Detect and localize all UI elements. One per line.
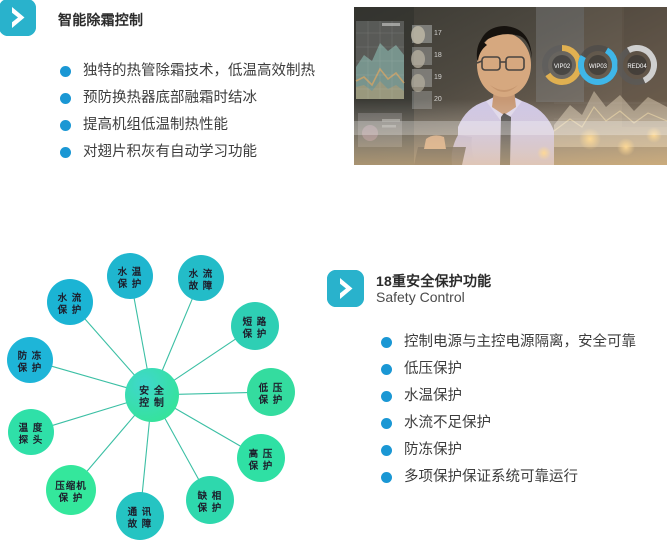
bullet-label: 提高机组低温制热性能 xyxy=(83,118,228,133)
svg-text:压缩机: 压缩机 xyxy=(55,480,87,492)
list-item: 控制电源与主控电源隔离，安全可靠 xyxy=(381,329,636,356)
svg-text:水 温: 水 温 xyxy=(118,266,143,278)
svg-text:防 冻: 防 冻 xyxy=(18,350,43,362)
svg-text:故 障: 故 障 xyxy=(128,518,153,530)
engineer-with-data-dashboard-photo: 1718 1920 xyxy=(354,7,667,165)
bullet-dot-icon xyxy=(60,66,71,77)
diagram-node[interactable]: 缺 相保 护 xyxy=(186,476,234,524)
bullet-dot-icon xyxy=(60,120,71,131)
diagram-link xyxy=(162,298,192,371)
diagram-node[interactable]: 短 路保 护 xyxy=(231,302,279,350)
diagram-link xyxy=(142,421,149,493)
svg-text:保 护: 保 护 xyxy=(57,304,83,316)
svg-text:保 护: 保 护 xyxy=(117,278,143,290)
svg-text:水 流: 水 流 xyxy=(58,292,83,304)
svg-text:保 护: 保 护 xyxy=(17,362,43,374)
diagram-link xyxy=(178,393,248,395)
svg-text:缺 相: 缺 相 xyxy=(197,490,223,502)
svg-text:探 头: 探 头 xyxy=(19,434,44,446)
list-item: 防冻保护 xyxy=(381,437,636,464)
svg-text:保 护: 保 护 xyxy=(248,460,274,472)
bullet-dot-icon xyxy=(60,147,71,158)
diagram-node[interactable]: 通 讯故 障 xyxy=(116,492,164,540)
list-item: 水流不足保护 xyxy=(381,410,636,437)
section-title-defrost: 智能除霜控制 xyxy=(58,10,143,30)
bullet-list-defrost: 独特的热管除霜技术，低温高效制热 预防换热器底部融霜时结冰 提高机组低温制热性能… xyxy=(60,58,315,166)
diagram-link xyxy=(52,403,127,426)
bullet-label: 防冻保护 xyxy=(404,443,462,458)
svg-text:保 护: 保 护 xyxy=(197,502,223,514)
bullet-dot-icon xyxy=(381,364,392,375)
svg-text:保 护: 保 护 xyxy=(258,394,284,406)
svg-text:保 护: 保 护 xyxy=(242,328,268,340)
svg-text:保 护: 保 护 xyxy=(58,492,84,504)
svg-text:通 讯: 通 讯 xyxy=(128,506,153,518)
diagram-link xyxy=(51,366,127,388)
svg-text:高 压: 高 压 xyxy=(249,448,274,460)
bullet-dot-icon xyxy=(381,445,392,456)
bullet-label: 多项保护保证系统可靠运行 xyxy=(404,470,578,485)
svg-text:19: 19 xyxy=(434,74,442,81)
svg-text:RED04: RED04 xyxy=(627,64,647,70)
bullet-label: 水流不足保护 xyxy=(404,416,491,431)
svg-text:温 度: 温 度 xyxy=(19,422,44,434)
list-item: 水温保护 xyxy=(381,383,636,410)
list-item: 低压保护 xyxy=(381,356,636,383)
list-item: 对翅片积灰有自动学习功能 xyxy=(60,139,315,166)
svg-text:17: 17 xyxy=(434,30,442,37)
bullet-label: 水温保护 xyxy=(404,389,462,404)
svg-text:18: 18 xyxy=(434,52,442,59)
diagram-link xyxy=(134,298,147,370)
chevron-right-badge-icon-safety xyxy=(327,270,364,307)
diagram-node[interactable]: 温 度探 头 xyxy=(8,409,54,455)
svg-text:控 制: 控 制 xyxy=(139,396,165,409)
bullet-label: 独特的热管除霜技术，低温高效制热 xyxy=(83,64,315,79)
bullet-label: 控制电源与主控电源隔离，安全可靠 xyxy=(404,335,636,350)
diagram-node[interactable]: 水 温保 护 xyxy=(107,253,153,299)
bullet-dot-icon xyxy=(381,391,392,402)
svg-text:WIP03: WIP03 xyxy=(589,64,608,70)
chevron-right-badge-icon-defrost xyxy=(0,0,36,36)
svg-text:VIP02: VIP02 xyxy=(554,64,571,70)
bullet-label: 低压保护 xyxy=(404,362,462,377)
diagram-node[interactable]: 高 压保 护 xyxy=(237,434,285,482)
list-item: 多项保护保证系统可靠运行 xyxy=(381,464,636,491)
diagram-link xyxy=(175,408,242,446)
diagram-node[interactable]: 安 全控 制 xyxy=(125,368,179,422)
bullet-dot-icon xyxy=(381,337,392,348)
diagram-node[interactable]: 水 流保 护 xyxy=(47,279,93,325)
diagram-link xyxy=(87,415,136,472)
section-title-safety: 18重安全保护功能 xyxy=(376,271,491,291)
diagram-node[interactable]: 防 冻保 护 xyxy=(7,337,53,383)
svg-text:短 路: 短 路 xyxy=(243,316,268,328)
bullet-label: 对翅片积灰有自动学习功能 xyxy=(83,145,257,160)
bullet-label: 预防换热器底部融霜时结冰 xyxy=(83,91,257,106)
bullet-list-safety: 控制电源与主控电源隔离，安全可靠 低压保护 水温保护 水流不足保护 防冻保护 多… xyxy=(381,329,636,491)
svg-text:水 流: 水 流 xyxy=(189,268,214,280)
bullet-dot-icon xyxy=(60,93,71,104)
diagram-link xyxy=(165,418,199,480)
bullet-dot-icon xyxy=(381,418,392,429)
diagram-node[interactable]: 压缩机保 护 xyxy=(46,465,96,515)
diagram-node[interactable]: 水 流故 障 xyxy=(178,255,224,301)
safety-control-radial-diagram: 水 温保 护水 流故 障水 流保 护短 路保 护防 冻保 护低 压保 护温 度探… xyxy=(0,240,330,546)
section-subtitle-safety: Safety Control xyxy=(376,289,465,305)
svg-text:故 障: 故 障 xyxy=(189,280,214,292)
list-item: 提高机组低温制热性能 xyxy=(60,112,315,139)
svg-text:低 压: 低 压 xyxy=(258,382,284,394)
list-item: 预防换热器底部融霜时结冰 xyxy=(60,85,315,112)
diagram-link xyxy=(174,339,236,381)
list-item: 独特的热管除霜技术，低温高效制热 xyxy=(60,58,315,85)
bullet-dot-icon xyxy=(381,472,392,483)
diagram-link xyxy=(85,319,135,376)
svg-text:安 全: 安 全 xyxy=(139,384,165,397)
diagram-node[interactable]: 低 压保 护 xyxy=(247,368,295,416)
